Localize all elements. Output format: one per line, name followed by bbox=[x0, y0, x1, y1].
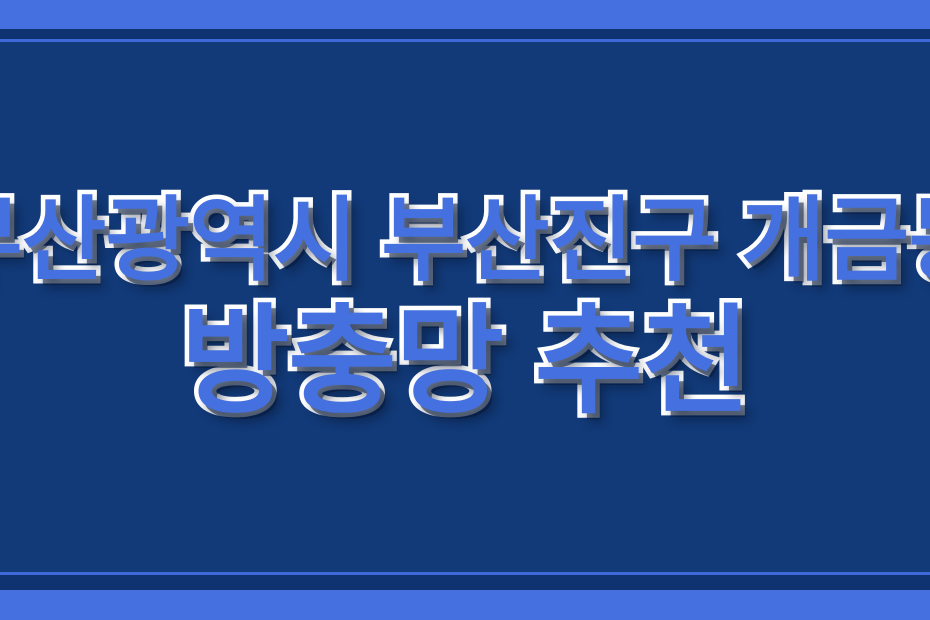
headline-line-keyword: 방충망 추천 bbox=[181, 298, 750, 428]
headline-line-location: 부산광역시 부산진구 개금동 bbox=[0, 192, 930, 291]
promo-banner: 부산광역시 부산진구 개금동 방충망 추천 bbox=[0, 0, 930, 620]
bottom-dark-band bbox=[0, 575, 930, 590]
headline-block: 부산광역시 부산진구 개금동 방충망 추천 bbox=[0, 0, 930, 620]
bottom-accent-band bbox=[0, 590, 930, 620]
